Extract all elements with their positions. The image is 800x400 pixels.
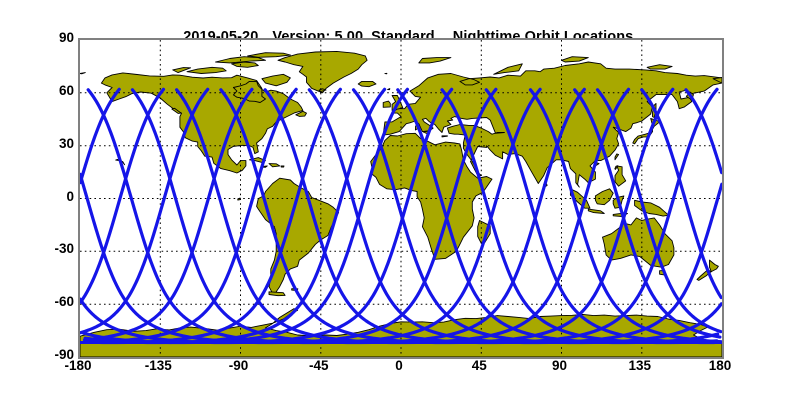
orbit-map-figure: 2019-05-20Version: 5.00StandardNighttime…: [0, 0, 800, 400]
y-tick-label: 0: [66, 190, 74, 203]
orbit-track: [686, 90, 722, 173]
y-tick-label: 90: [59, 31, 74, 44]
y-tick-label: 30: [59, 137, 74, 150]
x-tick-label: 135: [628, 358, 651, 373]
map-canvas: [80, 40, 722, 357]
x-tick-label: -180: [64, 358, 91, 373]
y-tick-label: -30: [54, 242, 74, 255]
x-tick-label: -135: [145, 358, 172, 373]
map-plot-area: [78, 38, 724, 359]
x-tick-label: 0: [395, 358, 403, 373]
x-tick-label: 45: [472, 358, 487, 373]
x-tick-label: -90: [229, 358, 249, 373]
orbit-track-layer: [80, 40, 722, 357]
y-tick-label: -60: [54, 295, 74, 308]
y-tick-label: 60: [59, 84, 74, 97]
orbit-track: [598, 90, 721, 332]
x-tick-label: -45: [309, 358, 329, 373]
orbit-track: [575, 90, 720, 337]
x-tick-label: 180: [709, 358, 732, 373]
orbit-track: [354, 90, 722, 343]
x-tick-label: 90: [552, 358, 567, 373]
